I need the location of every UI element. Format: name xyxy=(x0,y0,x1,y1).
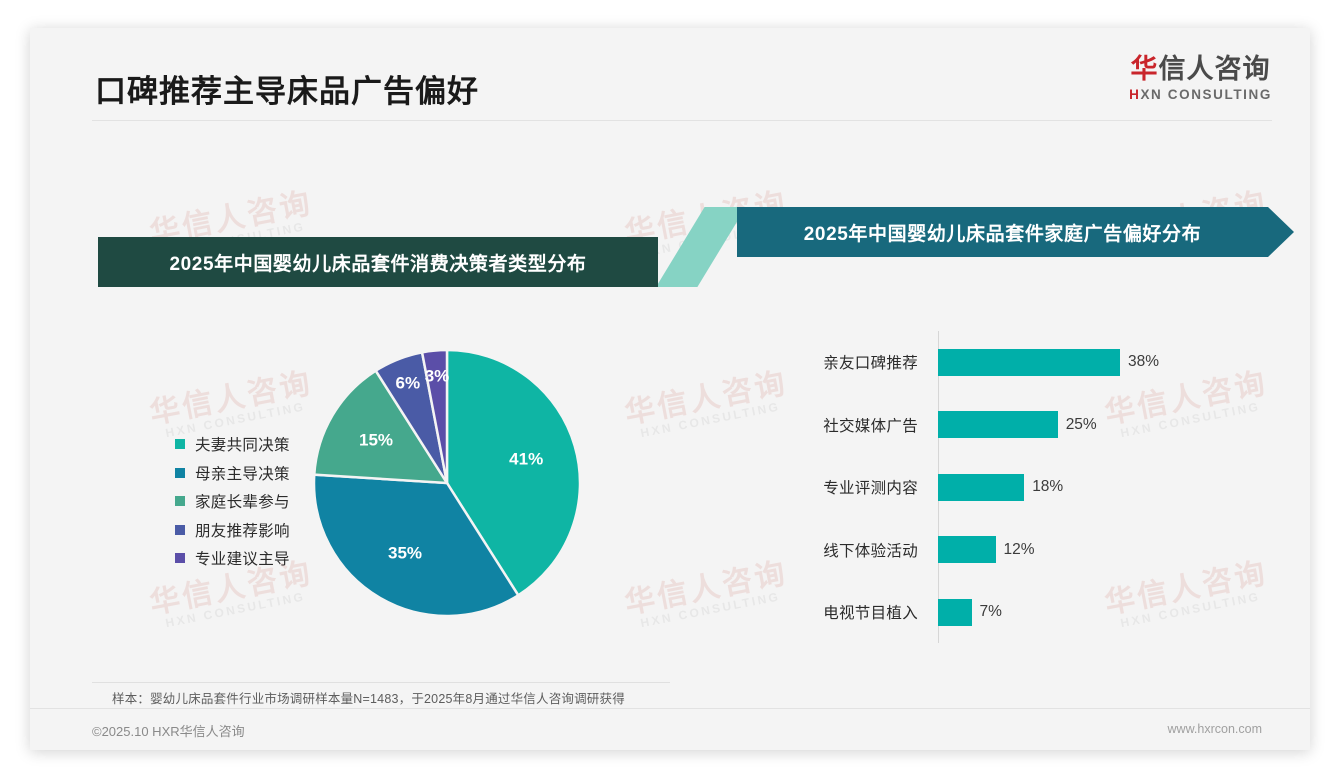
legend-color-swatch xyxy=(175,553,185,563)
legend-item-label: 夫妻共同决策 xyxy=(195,433,290,455)
bar-category-label: 线下体验活动 xyxy=(790,539,928,561)
bar-category-label: 电视节目植入 xyxy=(790,601,928,623)
bar-value-label: 7% xyxy=(980,603,1002,621)
pie-legend-item[interactable]: 母亲主导决策 xyxy=(175,459,290,488)
bar-track: 12% xyxy=(928,536,1290,563)
bar-category-label: 亲友口碑推荐 xyxy=(790,351,928,373)
banner-left: 2025年中国婴幼儿床品套件消费决策者类型分布 xyxy=(98,237,658,287)
pie-slice-label: 3% xyxy=(425,367,450,386)
pie-chart-svg: 41%35%15%6%3% xyxy=(312,348,582,618)
logo-en-rest: XN CONSULTING xyxy=(1140,87,1272,102)
bar-chart-panel: 亲友口碑推荐38%社交媒体广告25%专业评测内容18%线下体验活动12%电视节目… xyxy=(790,313,1290,653)
bar-fill[interactable] xyxy=(938,599,972,626)
legend-item-label: 朋友推荐影响 xyxy=(195,519,290,541)
legend-item-label: 母亲主导决策 xyxy=(195,462,290,484)
bar-chart-row[interactable]: 社交媒体广告25% xyxy=(790,394,1290,457)
bar-fill[interactable] xyxy=(938,474,1024,501)
pie-slice-label: 41% xyxy=(509,449,543,468)
logo-accent-char: 华 xyxy=(1131,54,1159,84)
legend-item-label: 专业建议主导 xyxy=(195,547,290,569)
banner-left-title: 2025年中国婴幼儿床品套件消费决策者类型分布 xyxy=(169,249,586,276)
pie-legend-item[interactable]: 朋友推荐影响 xyxy=(175,516,290,545)
bar-chart-rows: 亲友口碑推荐38%社交媒体广告25%专业评测内容18%线下体验活动12%电视节目… xyxy=(790,331,1290,644)
page-title: 口碑推荐主导床品广告偏好 xyxy=(95,66,479,111)
slide-footer: ©2025.10 HXR华信人咨询 www.hxrcon.com xyxy=(30,708,1310,750)
legend-color-swatch xyxy=(175,439,185,449)
pie-legend-item[interactable]: 夫妻共同决策 xyxy=(175,430,290,459)
bar-track: 18% xyxy=(928,474,1290,501)
bar-value-label: 18% xyxy=(1032,478,1063,496)
banner-right-title: 2025年中国婴幼儿床品套件家庭广告偏好分布 xyxy=(804,219,1201,246)
legend-item-label: 家庭长辈参与 xyxy=(195,490,290,512)
header-divider xyxy=(92,120,1272,121)
pie-legend: 夫妻共同决策母亲主导决策家庭长辈参与朋友推荐影响专业建议主导 xyxy=(175,430,290,573)
bar-track: 7% xyxy=(928,599,1290,626)
logo-en-accent: H xyxy=(1129,87,1140,102)
banner-connector-shape xyxy=(656,207,746,287)
website-url: www.hxrcon.com xyxy=(1168,722,1262,736)
pie-legend-item[interactable]: 家庭长辈参与 xyxy=(175,487,290,516)
slide-header: 口碑推荐主导床品广告偏好 华信人咨询 HXN CONSULTING xyxy=(30,28,1310,126)
pie-legend-item[interactable]: 专业建议主导 xyxy=(175,544,290,573)
logo-english: HXN CONSULTING xyxy=(1129,87,1272,102)
copyright-text: ©2025.10 HXR华信人咨询 xyxy=(92,721,245,740)
logo-rest-chars: 信人咨询 xyxy=(1159,54,1271,84)
brand-logo: 华信人咨询 HXN CONSULTING xyxy=(1129,54,1272,102)
slide-card: 华信人咨询HXN CONSULTING华信人咨询HXN CONSULTING华信… xyxy=(30,28,1310,750)
pie-slice-label: 35% xyxy=(388,543,422,562)
bar-value-label: 25% xyxy=(1066,416,1097,434)
bar-fill[interactable] xyxy=(938,349,1120,376)
pie-chart-panel: 夫妻共同决策母亲主导决策家庭长辈参与朋友推荐影响专业建议主导 41%35%15%… xyxy=(90,318,680,668)
bar-chart-row[interactable]: 线下体验活动12% xyxy=(790,519,1290,582)
banner-right: 2025年中国婴幼儿床品套件家庭广告偏好分布 xyxy=(737,207,1294,257)
legend-color-swatch xyxy=(175,468,185,478)
bar-track: 38% xyxy=(928,349,1290,376)
legend-color-swatch xyxy=(175,525,185,535)
bar-category-label: 社交媒体广告 xyxy=(790,414,928,436)
bar-value-label: 12% xyxy=(1004,541,1035,559)
legend-color-swatch xyxy=(175,496,185,506)
bar-category-label: 专业评测内容 xyxy=(790,476,928,498)
bar-chart-row[interactable]: 亲友口碑推荐38% xyxy=(790,331,1290,394)
bar-chart-row[interactable]: 专业评测内容18% xyxy=(790,456,1290,519)
bar-track: 25% xyxy=(928,411,1290,438)
sample-footnote: 样本：婴幼儿床品套件行业市场调研样本量N=1483，于2025年8月通过华信人咨… xyxy=(112,688,625,707)
footnote-divider-top xyxy=(92,682,670,683)
pie-chart: 41%35%15%6%3% xyxy=(312,348,582,618)
pie-slice-label: 6% xyxy=(396,374,421,393)
bar-fill[interactable] xyxy=(938,536,996,563)
bar-chart-row[interactable]: 电视节目植入7% xyxy=(790,581,1290,644)
logo-chinese: 华信人咨询 xyxy=(1129,54,1272,85)
bar-value-label: 38% xyxy=(1128,353,1159,371)
bar-fill[interactable] xyxy=(938,411,1058,438)
pie-slice-label: 15% xyxy=(359,430,393,449)
